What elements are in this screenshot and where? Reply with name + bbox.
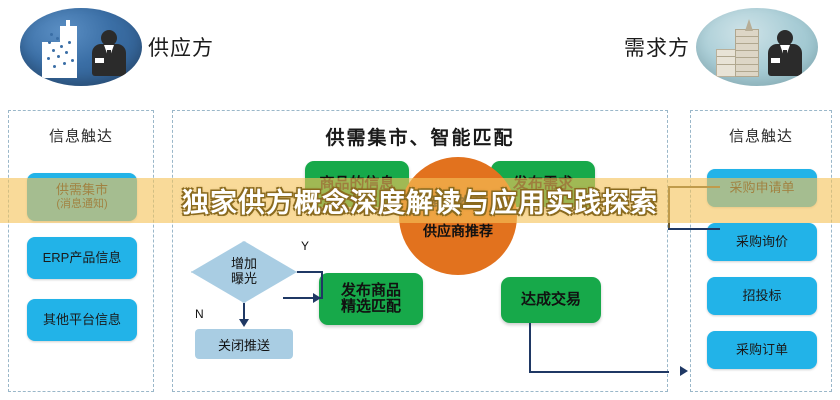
- connector-yes-v: [321, 271, 323, 299]
- branch-label-no: N: [195, 307, 204, 321]
- connector-bracket-bottom: [668, 228, 720, 230]
- node-publish-demand-label: 发布需求: [513, 176, 573, 193]
- recommend-product-label: 商品推荐: [430, 192, 486, 212]
- role-demand: 需求方: [624, 8, 818, 86]
- center-panel-title: 供需集市、智能匹配: [173, 123, 667, 150]
- right-item-purchase-order[interactable]: 采购订单: [707, 331, 817, 369]
- right-item-purchase-inquiry-label: 采购询价: [736, 235, 788, 250]
- role-supply: 供应方: [20, 8, 214, 86]
- connector-bracket-top: [668, 186, 720, 188]
- left-item-erp[interactable]: ERP产品信息: [27, 237, 137, 279]
- connector-yes-arrow: [313, 293, 321, 303]
- connector-no-arrow: [239, 319, 249, 327]
- decision-increase-exposure[interactable]: 增加 曝光: [191, 241, 297, 303]
- decision-line1: 增加: [231, 257, 257, 272]
- role-demand-label: 需求方: [624, 32, 690, 62]
- node-publish-product-line1: 发布商品: [341, 283, 401, 300]
- right-item-purchase-request-label: 采购申请单: [729, 181, 794, 196]
- buyer-person-icon: [768, 30, 802, 76]
- supplier-person-icon: [92, 30, 126, 76]
- right-item-purchase-inquiry[interactable]: 采购询价: [707, 223, 817, 261]
- connector-deal-v: [529, 323, 531, 373]
- diagram-canvas: 供应方 需求方 信息触达 供需集市 (消: [0, 0, 840, 400]
- left-item-other-platform-label: 其他平台信息: [43, 313, 121, 328]
- left-panel-title: 信息触达: [9, 125, 153, 146]
- center-panel: 供需集市、智能匹配 商品的信息 发布需求 商品推荐 供应商推荐 增加 曝光 Y …: [172, 110, 668, 392]
- right-panel-title: 信息触达: [691, 125, 831, 146]
- left-item-erp-label: ERP产品信息: [43, 251, 122, 266]
- connector-yes-h1: [297, 271, 323, 273]
- node-product-info-label: 商品的信息: [319, 176, 394, 193]
- right-item-purchase-request[interactable]: 采购申请单: [707, 169, 817, 207]
- connector-order-arrow: [680, 366, 688, 376]
- role-supply-label: 供应方: [148, 32, 214, 62]
- right-panel: 信息触达 采购申请单 采购询价 招投标 采购订单: [690, 110, 832, 392]
- decision-line2: 曝光: [231, 272, 257, 287]
- left-item-market[interactable]: 供需集市 (消息通知): [27, 173, 137, 221]
- node-publish-product-line2: 精选匹配: [341, 299, 401, 316]
- node-product-info[interactable]: 商品的信息: [305, 161, 409, 207]
- tower-icon: [716, 19, 764, 77]
- branch-label-yes: Y: [301, 239, 309, 253]
- supply-ellipse: [20, 8, 142, 86]
- recommend-supplier-label: 供应商推荐: [423, 221, 493, 241]
- node-deal-done-label: 达成交易: [521, 292, 581, 309]
- left-item-market-sub: (消息通知): [56, 198, 107, 211]
- left-item-other-platform[interactable]: 其他平台信息: [27, 299, 137, 341]
- demand-ellipse: [696, 8, 818, 86]
- node-deal-done[interactable]: 达成交易: [501, 277, 601, 323]
- left-item-market-label: 供需集市: [56, 183, 108, 198]
- right-item-bidding-label: 招投标: [742, 289, 781, 304]
- right-item-purchase-order-label: 采购订单: [736, 343, 788, 358]
- right-item-bidding[interactable]: 招投标: [707, 277, 817, 315]
- connector-bracket-vertical: [668, 186, 670, 230]
- node-publish-product[interactable]: 发布商品 精选匹配: [319, 273, 423, 325]
- node-close-push[interactable]: 关闭推送: [195, 329, 293, 359]
- node-close-push-label: 关闭推送: [218, 335, 270, 354]
- factory-icon: [42, 24, 84, 78]
- node-recommendation-circle[interactable]: 商品推荐 供应商推荐: [399, 157, 517, 275]
- left-panel: 信息触达 供需集市 (消息通知) ERP产品信息 其他平台信息: [8, 110, 154, 392]
- connector-deal-h: [529, 371, 669, 373]
